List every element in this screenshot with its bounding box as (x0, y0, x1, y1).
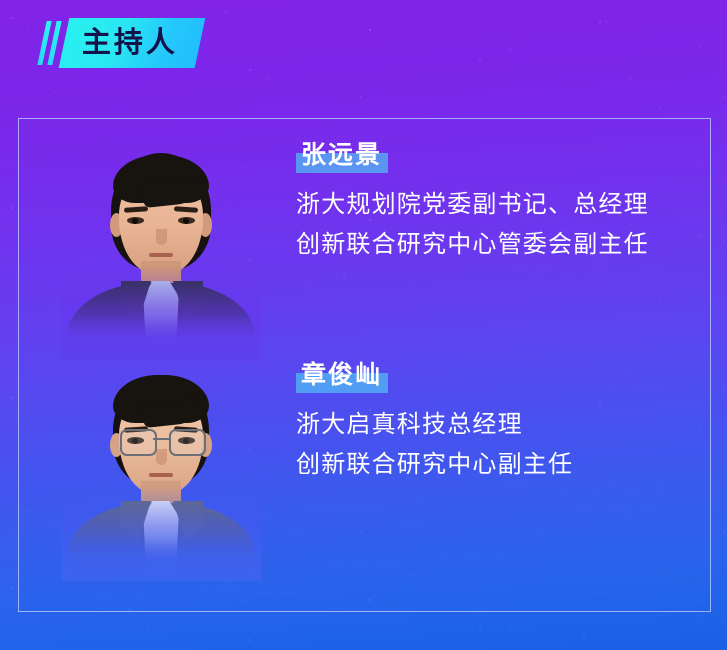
speaker-card: 张远景 浙大规划院党委副书记、总经理 创新联合研究中心管委会副主任 (19, 141, 710, 361)
speaker-name: 章俊屾 (301, 361, 382, 389)
speaker-info: 章俊屾 浙大启真科技总经理 创新联合研究中心副主任 (296, 361, 716, 485)
speaker-card: 章俊屾 浙大启真科技总经理 创新联合研究中心副主任 (19, 361, 710, 581)
section-heading: 主持人 (38, 18, 200, 68)
speakers-panel: 张远景 浙大规划院党委副书记、总经理 创新联合研究中心管委会副主任 (18, 118, 711, 612)
speaker-title-line: 创新联合研究中心副主任 (296, 445, 716, 485)
speaker-title-line: 创新联合研究中心管委会副主任 (296, 225, 716, 265)
speaker-name-wrapper: 张远景 (296, 141, 388, 171)
avatar (61, 141, 261, 361)
nose-shape (156, 449, 167, 465)
speaker-info: 张远景 浙大规划院党委副书记、总经理 创新联合研究中心管委会副主任 (296, 141, 716, 265)
heading-label: 主持人 (82, 29, 178, 58)
eye-right (178, 217, 195, 224)
speaker-title-line: 浙大规划院党委副书记、总经理 (296, 185, 716, 225)
lens-right (169, 429, 206, 456)
poster-canvas: 主持人 (0, 0, 727, 650)
portrait-fade-overlay (61, 265, 261, 361)
avatar (61, 361, 261, 581)
speaker-title-line: 浙大启真科技总经理 (296, 405, 716, 445)
mouth-shape (149, 473, 173, 477)
speaker-name-wrapper: 章俊屾 (296, 361, 388, 391)
mouth-shape (149, 253, 173, 257)
glasses-bridge (153, 438, 169, 440)
eye-left (127, 217, 144, 224)
fringe-shape (113, 155, 209, 203)
lens-left (120, 429, 157, 456)
heading-badge: 主持人 (59, 18, 206, 68)
nose-shape (156, 229, 167, 245)
portrait-fade-overlay (61, 485, 261, 581)
speaker-name: 张远景 (301, 141, 382, 169)
fringe-shape (113, 375, 209, 423)
